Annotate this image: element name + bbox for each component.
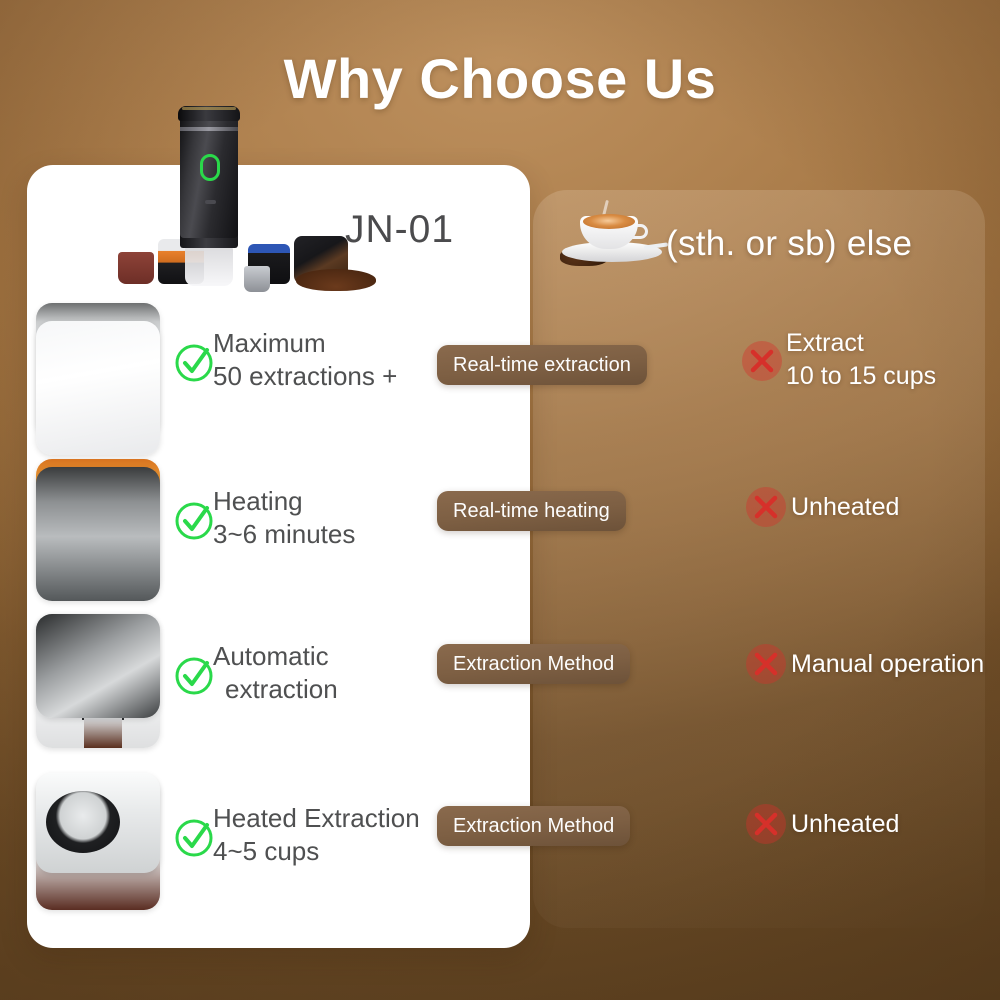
cross-icon bbox=[746, 487, 786, 527]
hero-display-icon bbox=[200, 154, 220, 181]
row1-right-line1: Extract bbox=[786, 327, 936, 360]
row3-left-line2: extraction bbox=[213, 673, 338, 706]
cross-icon bbox=[746, 804, 786, 844]
product-model-label: JN-01 bbox=[345, 208, 454, 252]
row2-badge: Real-time heating bbox=[437, 491, 626, 531]
cross-icon bbox=[742, 341, 782, 381]
row1-badge: Real-time extraction bbox=[437, 345, 647, 385]
hero-cap bbox=[178, 106, 240, 121]
row2-right-thumbnail bbox=[36, 467, 160, 601]
page-title: Why Choose Us bbox=[0, 46, 1000, 111]
row4-left-line2: 4~5 cups bbox=[213, 835, 420, 868]
row3-left-line1: Automatic bbox=[213, 640, 338, 673]
row4-left-line1: Heated Extraction bbox=[213, 802, 420, 835]
cross-icon bbox=[746, 644, 786, 684]
hero-cup bbox=[185, 246, 233, 286]
coffee-pod-red bbox=[118, 252, 154, 284]
row4-badge: Extraction Method bbox=[437, 806, 630, 846]
comparison-row: Maximum 50 extractions + Real-time extra… bbox=[0, 303, 1000, 453]
row2-right-line1: Unheated bbox=[791, 491, 899, 524]
check-icon bbox=[172, 499, 216, 543]
comparison-row: Automatic extraction Extraction Method M… bbox=[0, 614, 1000, 764]
row2-left-line2: 3~6 minutes bbox=[213, 518, 355, 551]
row4-right-thumbnail bbox=[36, 773, 160, 873]
hero-ring bbox=[180, 127, 238, 131]
row3-right-line1: Manual operation bbox=[791, 648, 984, 681]
coffee-pod-silver bbox=[244, 266, 270, 292]
row4-right-line1: Unheated bbox=[791, 808, 899, 841]
row1-right-thumbnail bbox=[36, 321, 160, 455]
comparison-row: Heated Extraction 4~5 cups Extraction Me… bbox=[0, 776, 1000, 926]
row1-right-line2: 10 to 15 cups bbox=[786, 360, 936, 393]
check-icon bbox=[172, 816, 216, 860]
row1-left-line1: Maximum bbox=[213, 327, 397, 360]
comparison-row: Heating 3~6 minutes Real-time heating Un… bbox=[0, 459, 1000, 609]
check-icon bbox=[172, 654, 216, 698]
check-icon bbox=[172, 341, 216, 385]
row2-left-line1: Heating bbox=[213, 485, 355, 518]
coffee-cup-icon bbox=[560, 200, 666, 266]
row3-badge: Extraction Method bbox=[437, 644, 630, 684]
product-hero-image bbox=[96, 106, 362, 286]
row1-left-line2: 50 extractions + bbox=[213, 360, 397, 393]
latte-art bbox=[583, 214, 635, 229]
competitor-title: (sth. or sb) else bbox=[666, 224, 912, 264]
coffee-grounds bbox=[296, 269, 376, 291]
hero-indicator-icon bbox=[205, 200, 216, 204]
row3-right-thumbnail bbox=[36, 614, 160, 718]
